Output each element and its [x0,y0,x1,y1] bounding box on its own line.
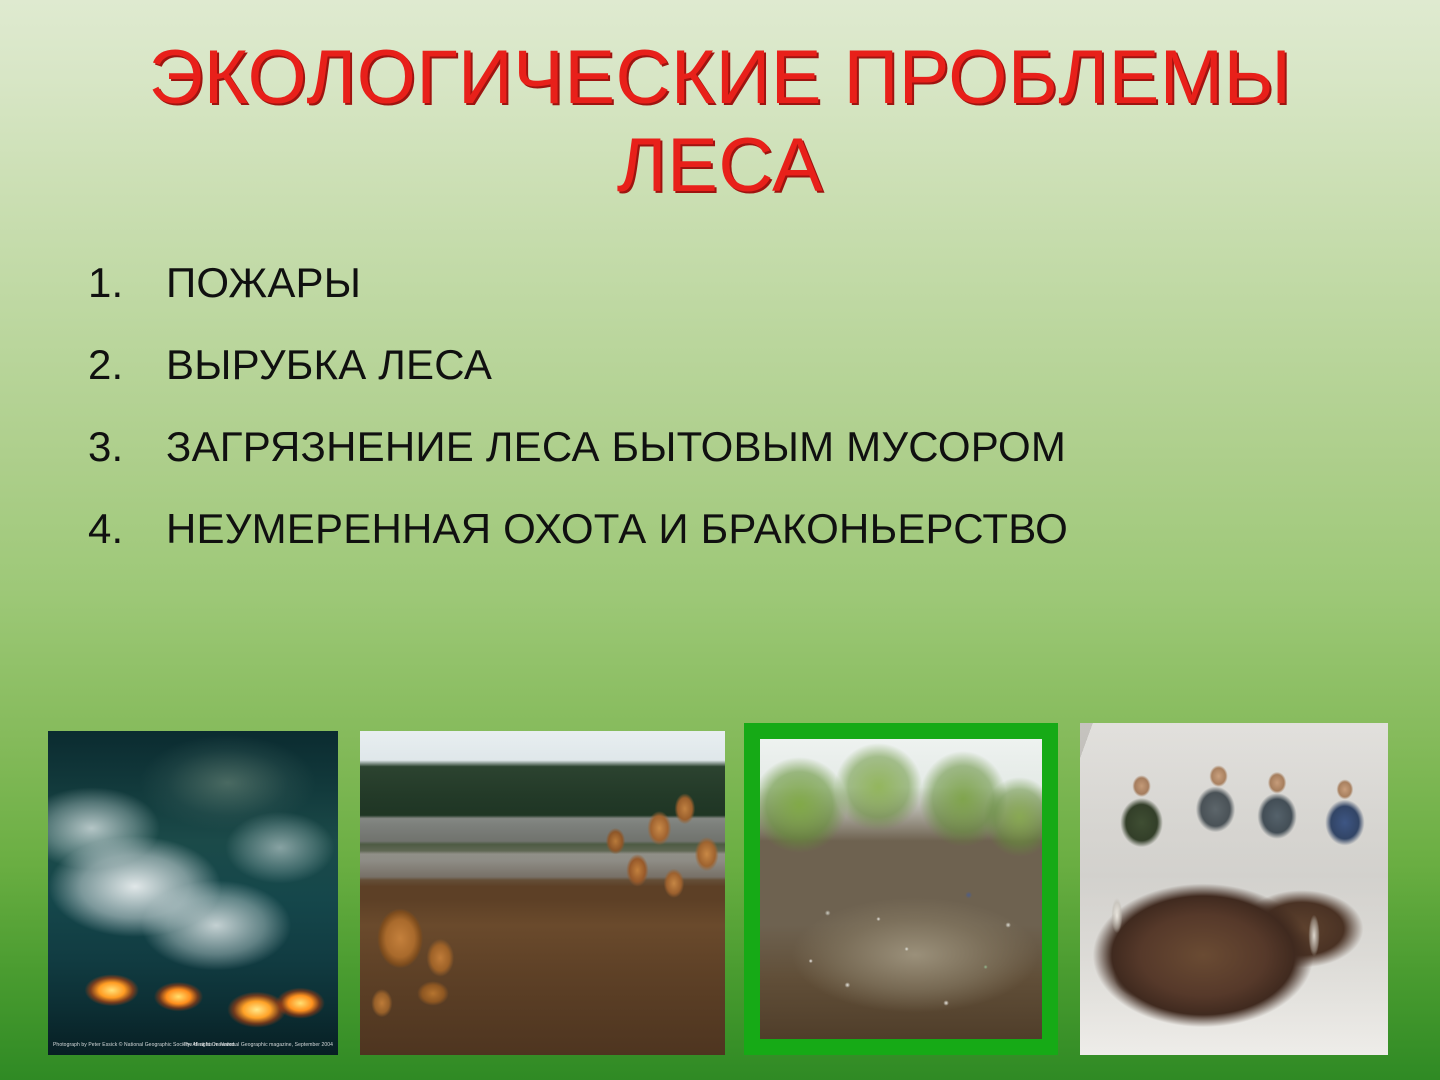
list-item-number: 2. [88,340,166,390]
list-item-label: ВЫРУБКА ЛЕСА [166,340,492,390]
forest-fire-photo-source: The Heat Is On National Geographic magaz… [183,1042,333,1049]
forest-dump-photo [744,723,1058,1055]
forest-fire-photo-image [48,731,338,1055]
list-item: 2. ВЫРУБКА ЛЕСА [88,340,1388,422]
slide-title: ЭКОЛОГИЧЕСКИЕ ПРОБЛЕМЫ ЛЕСА [0,34,1440,210]
list-item: 3. ЗАГРЯЗНЕНИЕ ЛЕСА БЫТОВЫМ МУСОРОМ [88,422,1388,504]
list-item-number: 4. [88,504,166,554]
list-item-number: 1. [88,258,166,308]
poaching-photo-image [1080,723,1388,1055]
forest-dump-photo-image [760,739,1042,1039]
title-line-1: ЭКОЛОГИЧЕСКИЕ ПРОБЛЕМЫ [0,34,1440,122]
title-line-2: ЛЕСА [0,122,1440,210]
poaching-photo [1080,723,1388,1055]
list-item: 4. НЕУМЕРЕННАЯ ОХОТА И БРАКОНЬЕРСТВО [88,504,1388,586]
list-item: 1. ПОЖАРЫ [88,258,1388,340]
logging-photo-image [360,731,725,1055]
list-item-label: НЕУМЕРЕННАЯ ОХОТА И БРАКОНЬЕРСТВО [166,504,1068,554]
list-item-label: ПОЖАРЫ [166,258,361,308]
problems-list: 1. ПОЖАРЫ 2. ВЫРУБКА ЛЕСА 3. ЗАГРЯЗНЕНИЕ… [88,258,1388,586]
list-item-label: ЗАГРЯЗНЕНИЕ ЛЕСА БЫТОВЫМ МУСОРОМ [166,422,1066,472]
presentation-slide: ЭКОЛОГИЧЕСКИЕ ПРОБЛЕМЫ ЛЕСА 1. ПОЖАРЫ 2.… [0,0,1440,1080]
forest-fire-photo: Photograph by Peter Essick © National Ge… [48,731,338,1055]
list-item-number: 3. [88,422,166,472]
logging-photo [360,731,725,1055]
